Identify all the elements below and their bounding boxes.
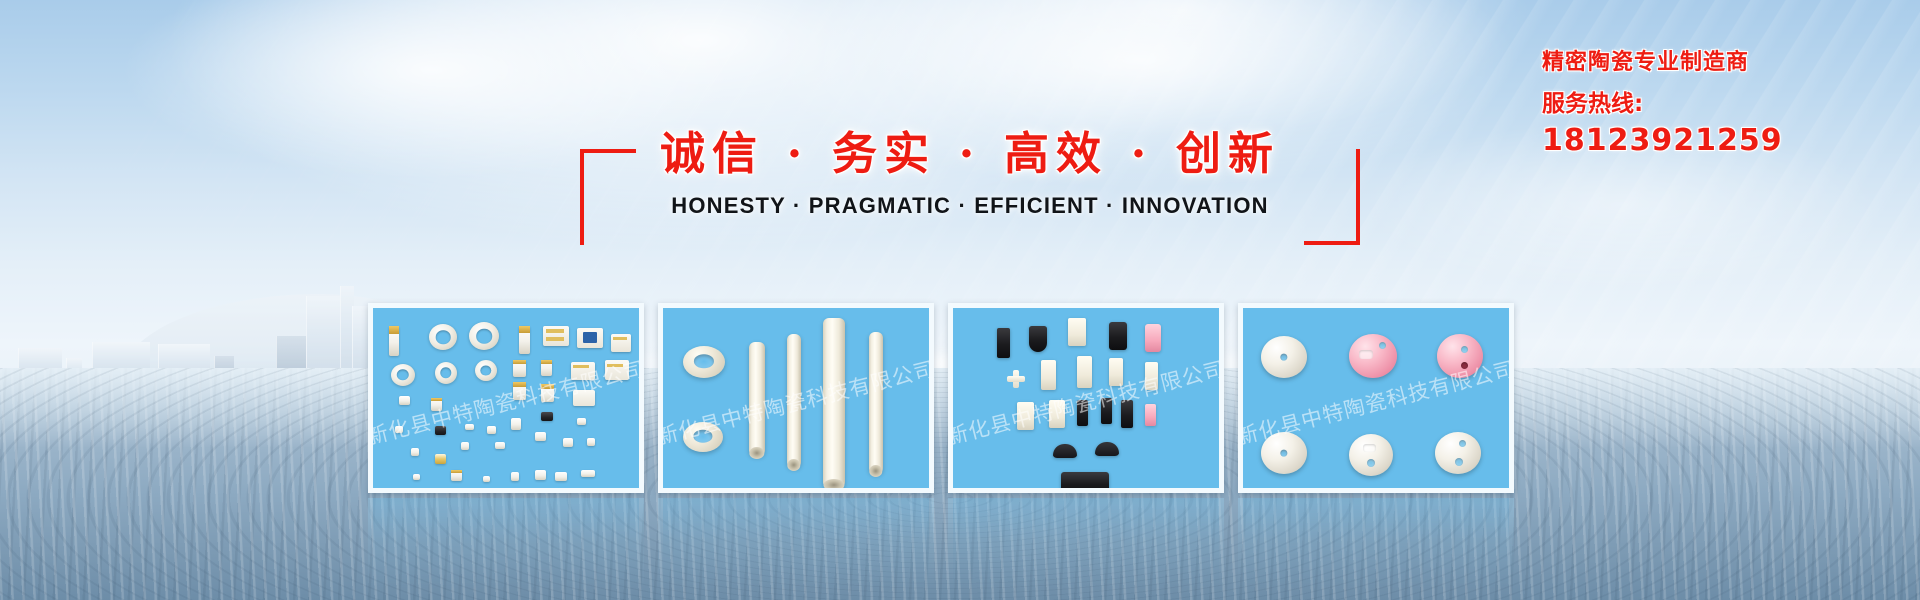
product-part: [1077, 356, 1092, 388]
product-part: [469, 322, 499, 350]
product-part: [399, 396, 410, 405]
product-part: [483, 476, 490, 482]
product-part: [451, 470, 462, 481]
panel-reflection: [658, 498, 934, 594]
product-part: [573, 390, 595, 406]
product-panel-4-wrap: 新化县中特陶瓷科技有限公司: [1238, 303, 1514, 493]
product-part: [1349, 334, 1397, 378]
product-part: [435, 362, 457, 384]
product-part: [1049, 400, 1065, 428]
product-part: [429, 324, 457, 350]
product-part: [435, 426, 446, 435]
product-part: [435, 454, 446, 464]
product-part: [391, 364, 415, 386]
product-part: [1109, 322, 1127, 350]
product-part: [683, 422, 723, 452]
product-part: [869, 332, 883, 474]
product-part: [475, 360, 497, 381]
product-part: [1041, 360, 1056, 390]
product-part: [461, 442, 469, 450]
product-part: [541, 412, 553, 421]
product-panel-alumina-tubes-and-rings[interactable]: 新化县中特陶瓷科技有限公司: [658, 303, 934, 493]
product-part: [683, 346, 725, 378]
product-part: [605, 360, 629, 380]
product-part: [749, 342, 765, 456]
product-part: [413, 474, 420, 480]
product-part: [513, 360, 526, 377]
product-part: [1068, 318, 1086, 346]
product-panel-ceramic-blocks-and-arcs[interactable]: 新化县中特陶瓷科技有限公司: [948, 303, 1224, 493]
product-part: [577, 418, 586, 425]
product-part: [1061, 472, 1109, 493]
panel-2-content: [663, 308, 929, 488]
product-part: [1261, 432, 1307, 474]
product-part: [1077, 400, 1088, 426]
product-part: [465, 424, 474, 430]
product-panel-2-wrap: 新化县中特陶瓷科技有限公司: [658, 303, 934, 493]
product-part: [535, 432, 546, 441]
product-part: [1017, 402, 1034, 430]
product-part: [823, 318, 845, 488]
product-panel-3-wrap: 新化县中特陶瓷科技有限公司: [948, 303, 1224, 493]
product-part: [1261, 336, 1307, 378]
product-part: [1121, 400, 1133, 428]
product-part: [787, 334, 801, 468]
product-panel-row: 新化县中特陶瓷科技有限公司 新化县中特陶瓷科技有限公司: [368, 303, 1514, 493]
product-part: [581, 470, 595, 477]
panel-3-content: [953, 308, 1219, 488]
panel-4-content: [1243, 308, 1509, 488]
product-part: [389, 326, 399, 356]
product-part: [513, 382, 526, 400]
product-part: [563, 438, 573, 447]
slogan-chinese: 诚信 · 务实 · 高效 · 创新: [580, 125, 1360, 183]
panel-1-content: [373, 308, 639, 488]
product-part: [511, 472, 519, 481]
product-panel-ceramic-discs[interactable]: 新化县中特陶瓷科技有限公司: [1238, 303, 1514, 493]
product-part: [571, 362, 595, 380]
product-part: [1029, 326, 1047, 352]
product-panel-smd-chip-components[interactable]: 新化县中特陶瓷科技有限公司: [368, 303, 644, 493]
product-part: [587, 438, 595, 446]
product-part: [511, 418, 521, 430]
product-panel-1-wrap: 新化县中特陶瓷科技有限公司: [368, 303, 644, 493]
product-part: [495, 442, 505, 449]
product-part: [431, 398, 442, 411]
product-part: [487, 426, 496, 434]
product-part: [541, 360, 552, 376]
product-part: [411, 448, 419, 456]
product-part: [541, 384, 554, 402]
product-part: [1145, 362, 1158, 390]
product-part: [519, 326, 530, 354]
product-part: [1349, 434, 1393, 476]
product-part: [577, 328, 603, 348]
product-part: [1053, 444, 1077, 458]
product-part: [555, 472, 567, 481]
product-part: [1437, 334, 1483, 378]
product-part: [997, 328, 1010, 358]
product-part: [535, 470, 546, 480]
product-part: [1435, 432, 1481, 474]
slogan-english: HONESTY · PRAGMATIC · EFFICIENT · INNOVA…: [580, 193, 1360, 219]
product-part: [543, 326, 569, 346]
company-tagline: 精密陶瓷专业制造商: [1542, 48, 1842, 78]
hotline-number[interactable]: 18123921259: [1542, 122, 1842, 160]
product-part: [1145, 404, 1156, 426]
panel-reflection: [948, 498, 1224, 594]
panel-reflection: [368, 498, 644, 594]
product-part: [1101, 398, 1112, 424]
product-part: [1095, 442, 1119, 456]
hotline-label: 服务热线:: [1542, 88, 1842, 120]
product-part: [611, 334, 631, 352]
product-part: [1145, 324, 1161, 352]
product-part: [395, 426, 403, 433]
product-part: [1007, 370, 1025, 388]
slogan-block: 诚信 · 务实 · 高效 · 创新 HONESTY · PRAGMATIC · …: [580, 125, 1360, 245]
panel-reflection: [1238, 498, 1514, 594]
product-part: [1109, 358, 1123, 386]
contact-block: 精密陶瓷专业制造商 服务热线: 18123921259: [1542, 48, 1842, 160]
